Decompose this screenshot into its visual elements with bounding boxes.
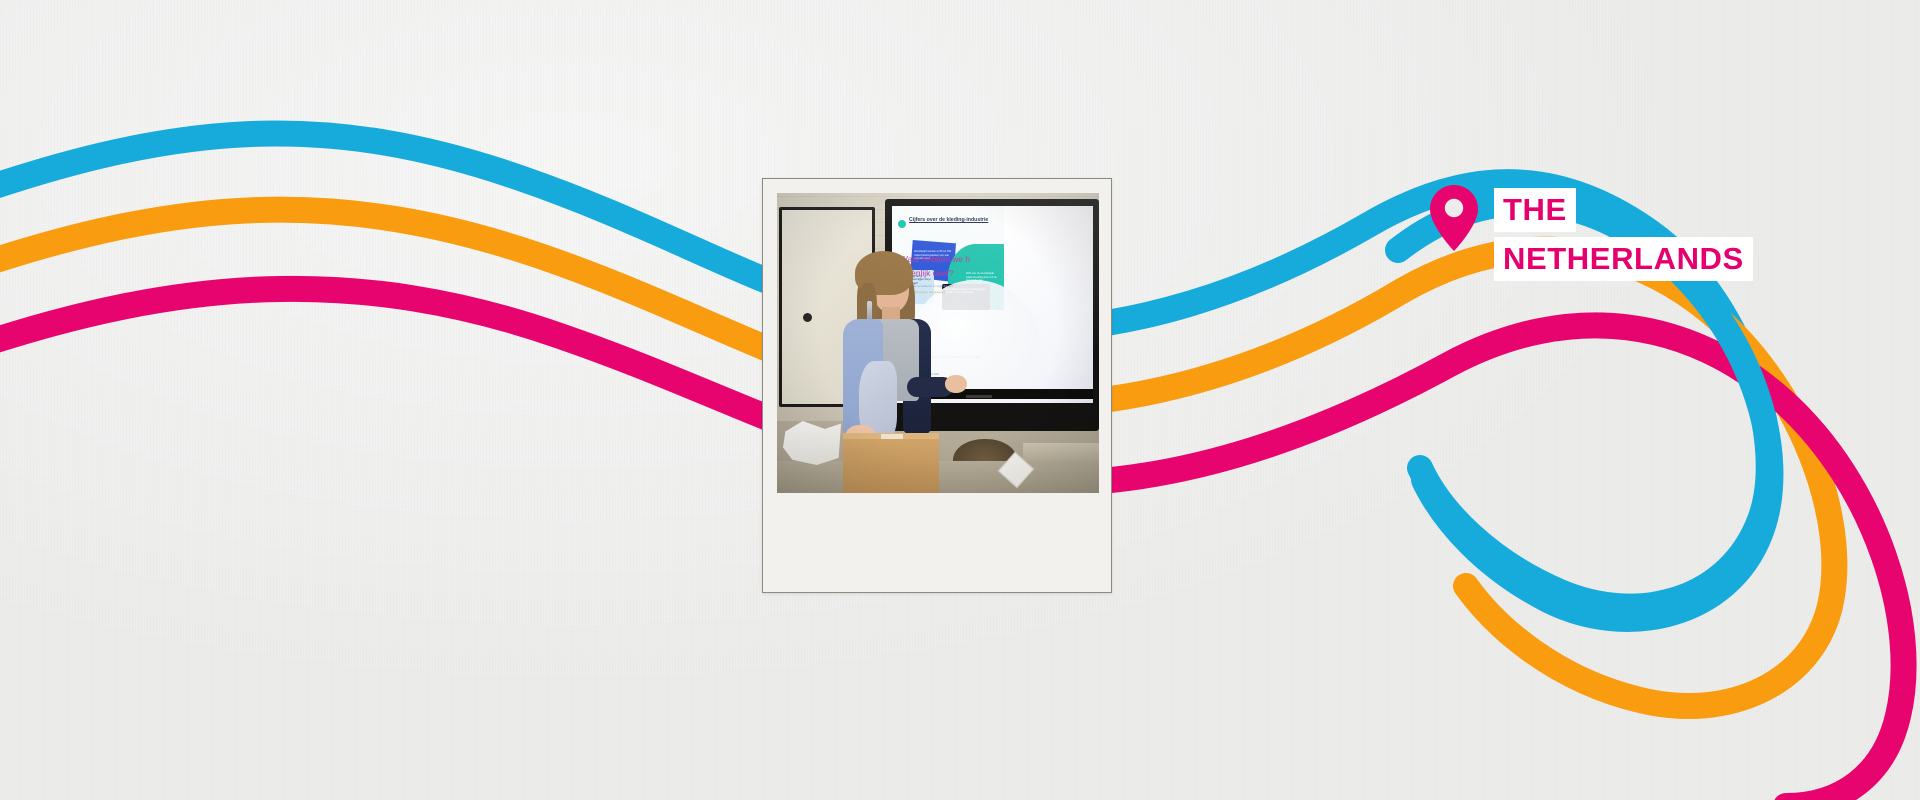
map-pin-icon[interactable]	[1430, 185, 1478, 251]
location-label: THE NETHERLANDS	[1494, 188, 1753, 281]
location-label-line-1: THE	[1494, 188, 1576, 232]
location-marker[interactable]	[1430, 185, 1478, 251]
location-label-line-2: NETHERLANDS	[1494, 237, 1753, 281]
polaroid-photo: Cijfers over de kleding-industrie Wereld…	[777, 193, 1099, 493]
photo-vignette	[777, 193, 1099, 493]
polaroid-card: Cijfers over de kleding-industrie Wereld…	[762, 178, 1112, 593]
polaroid-caption	[777, 493, 1097, 593]
page-canvas: Cijfers over de kleding-industrie Wereld…	[0, 0, 1920, 800]
